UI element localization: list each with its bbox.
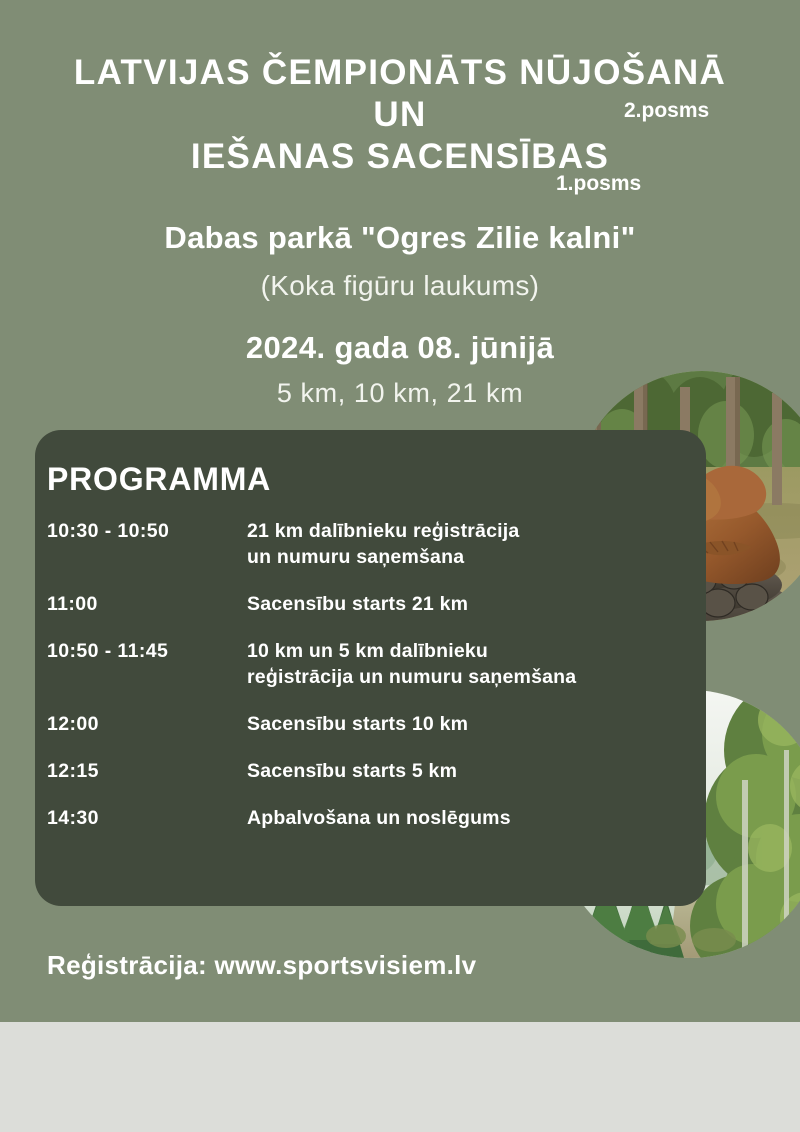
schedule-description-line: Sacensību starts 10 km [247,711,667,737]
schedule-description-line: Sacensību starts 5 km [247,758,667,784]
schedule-description-line: Apbalvošana un noslēgums [247,805,667,831]
schedule-row: 11:00 Sacensību starts 21 km [47,591,667,617]
schedule-row: 12:00 Sacensību starts 10 km [47,711,667,737]
schedule-row: 14:30 Apbalvošana un noslēgums [47,805,667,831]
schedule-description-line: Sacensību starts 21 km [247,591,667,617]
schedule-description: Sacensību starts 10 km [247,711,667,737]
venue-detail: (Koka figūru laukums) [0,270,800,302]
event-poster: LATVIJAS ČEMPIONĀTS NŪJOŠANĀ UN IEŠANAS … [0,0,800,1132]
schedule-description-line: reģistrācija un numuru saņemšana [247,664,667,690]
schedule-row: 10:30 - 10:50 21 km dalībnieku reģistrāc… [47,518,667,570]
schedule-row: 10:50 - 11:45 10 km un 5 km dalībnieku r… [47,638,667,690]
schedule-time: 12:15 [47,758,247,784]
event-date: 2024. gada 08. jūnijā [0,330,800,366]
schedule-time: 10:50 - 11:45 [47,638,247,664]
schedule-row: 12:15 Sacensību starts 5 km [47,758,667,784]
registration-link[interactable]: Reģistrācija: www.sportsvisiem.lv [47,950,476,981]
schedule-description-line: 10 km un 5 km dalībnieku [247,638,667,664]
title-line-1: LATVIJAS ČEMPIONĀTS NŪJOŠANĀ [0,52,800,94]
venue-name: Dabas parkā "Ogres Zilie kalni" [0,220,800,256]
title-line-3: IEŠANAS SACENSĪBAS [0,136,800,178]
schedule-description-line: un numuru saņemšana [247,544,667,570]
schedule-time: 10:30 - 10:50 [47,518,247,544]
stage-badge-nordic: 2.posms [624,99,709,123]
schedule-description: 21 km dalībnieku reģistrācija un numuru … [247,518,667,570]
schedule-time: 12:00 [47,711,247,737]
schedule-time: 11:00 [47,591,247,617]
schedule-description: Sacensību starts 5 km [247,758,667,784]
program-schedule: 10:30 - 10:50 21 km dalībnieku reģistrāc… [47,518,667,852]
event-distances: 5 km, 10 km, 21 km [0,378,800,409]
schedule-description-line: 21 km dalībnieku reģistrācija [247,518,667,544]
schedule-description: Apbalvošana un noslēgums [247,805,667,831]
poster-header: LATVIJAS ČEMPIONĀTS NŪJOŠANĀ UN IEŠANAS … [0,52,800,178]
schedule-description: Sacensību starts 21 km [247,591,667,617]
stage-badge-walking: 1.posms [556,172,641,196]
schedule-time: 14:30 [47,805,247,831]
schedule-description: 10 km un 5 km dalībnieku reģistrācija un… [247,638,667,690]
program-heading: PROGRAMMA [47,461,271,498]
sponsor-footer [0,1022,800,1132]
